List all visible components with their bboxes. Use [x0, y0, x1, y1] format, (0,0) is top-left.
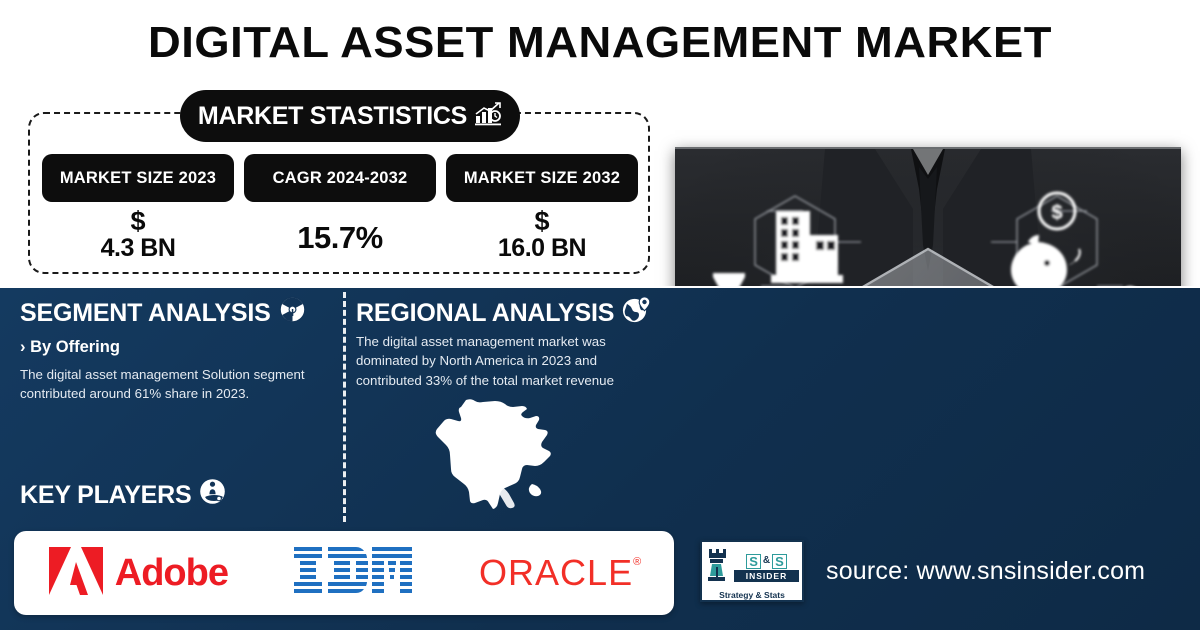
page-title: DIGITAL ASSET MANAGEMENT MARKET	[0, 18, 1200, 68]
sns-s-left: S	[746, 554, 761, 569]
source-block: S & S INSIDER Strategy & Stats source: w…	[700, 540, 1145, 602]
source-url-text: source: www.snsinsider.com	[826, 557, 1145, 586]
stat-number: 4.3 BN	[42, 236, 234, 262]
stat-value: 15.7%	[244, 208, 436, 254]
globe-pin-icon	[622, 296, 651, 330]
stat-col-cagr: CAGR 2024-2032 15.7%	[244, 154, 436, 261]
stat-col-market-size-2032: MARKET SIZE 2032 $ 16.0 BN	[446, 154, 638, 261]
key-players-heading: KEY PLAYERS	[20, 478, 226, 512]
segment-analysis-heading-label: SEGMENT ANALYSIS	[20, 299, 271, 328]
sns-insider-logo: S & S INSIDER Strategy & Stats	[700, 540, 804, 602]
stat-label: CAGR 2024-2032	[244, 154, 436, 202]
segment-subheading: › By Offering	[20, 338, 120, 357]
key-players-logo-bar: Adobe	[14, 531, 674, 615]
sns-tagline: Strategy & Stats	[705, 590, 799, 601]
stat-label: MARKET SIZE 2023	[42, 154, 234, 202]
stat-label: MARKET SIZE 2032	[446, 154, 638, 202]
regional-analysis-heading-label: REGIONAL ANALYSIS	[356, 299, 614, 328]
vertical-dashed-divider	[343, 292, 346, 522]
logo-adobe[interactable]: Adobe	[47, 545, 228, 602]
oracle-wordmark: ORACLE	[479, 552, 633, 594]
stat-number: 15.7%	[244, 222, 436, 254]
sns-ampersand: &	[763, 556, 770, 566]
oracle-trademark: ®	[633, 556, 641, 568]
regional-analysis-heading: REGIONAL ANALYSIS	[356, 296, 651, 330]
market-statistics-badge: MARKET STASTISTICS	[180, 90, 520, 142]
north-america-map	[432, 390, 577, 515]
stat-currency: $	[42, 208, 234, 236]
sns-s-right: S	[772, 554, 787, 569]
stat-value: $ 16.0 BN	[446, 208, 638, 261]
person-podium-circle-icon	[199, 478, 226, 512]
adobe-wordmark: Adobe	[115, 552, 228, 595]
sns-ss-letters: S & S	[734, 554, 799, 569]
logo-ibm[interactable]	[294, 545, 414, 602]
infographic-root: DIGITAL ASSET MANAGEMENT MARKET MARKET S…	[0, 0, 1200, 630]
logo-oracle[interactable]: ORACLE ®	[479, 552, 641, 594]
svg-text:$: $	[1051, 202, 1062, 224]
market-statistics-columns: MARKET SIZE 2023 $ 4.3 BN CAGR 2024-2032…	[42, 154, 638, 261]
ibm-wordmark-icon	[294, 545, 414, 597]
stat-value: $ 4.3 BN	[42, 208, 234, 261]
sns-insider-label: INSIDER	[734, 570, 799, 582]
stat-currency: $	[446, 208, 638, 236]
bar-chart-growth-icon	[474, 102, 502, 131]
segment-analysis-heading: SEGMENT ANALYSIS	[20, 296, 306, 330]
market-statistics-badge-label: MARKET STASTISTICS	[198, 102, 467, 131]
adobe-mark-icon	[47, 545, 105, 602]
stat-col-market-size-2023: MARKET SIZE 2023 $ 4.3 BN	[42, 154, 234, 261]
regional-body-text: The digital asset management market was …	[356, 332, 631, 390]
key-players-heading-label: KEY PLAYERS	[20, 481, 191, 510]
stat-number: 16.0 BN	[446, 236, 638, 262]
pie-chart-circle-icon	[279, 296, 306, 330]
chess-rook-icon	[705, 545, 731, 590]
segment-body-text: The digital asset management Solution se…	[20, 365, 325, 404]
